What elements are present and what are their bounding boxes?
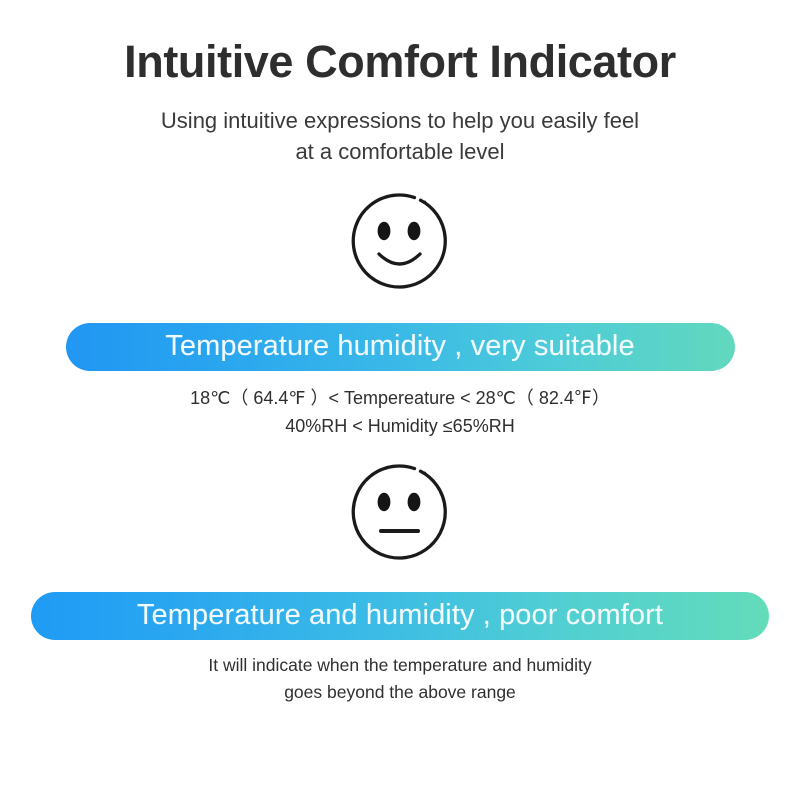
page-subtitle: Using intuitive expressions to help you … xyxy=(161,105,639,167)
page-subtitle-line-1: Using intuitive expressions to help you … xyxy=(161,105,639,136)
poor-comfort-description: It will indicate when the temperature an… xyxy=(208,652,591,706)
happy-face-illustration xyxy=(0,190,800,294)
comfort-indicator-page: Intuitive Comfort Indicator Using intuit… xyxy=(0,0,800,800)
smiley-neutral-face-icon xyxy=(348,461,452,565)
poor-comfort-description-line-2: goes beyond the above range xyxy=(208,679,591,706)
smiley-happy-face-icon xyxy=(348,190,452,294)
poor-comfort-description-line-1: It will indicate when the temperature an… xyxy=(208,652,591,679)
suitable-temperature-range: 18℃（ 64.4℉ ）< Tempereature < 28℃（ 82.4℉） xyxy=(190,385,610,413)
page-title: Intuitive Comfort Indicator xyxy=(124,38,676,85)
status-banner-suitable[interactable]: Temperature humidity , very suitable xyxy=(66,323,735,371)
suitable-range-text: 18℃（ 64.4℉ ）< Tempereature < 28℃（ 82.4℉）… xyxy=(190,385,610,441)
neutral-face-illustration xyxy=(0,461,800,565)
status-banner-poor-comfort[interactable]: Temperature and humidity , poor comfort xyxy=(31,592,769,640)
page-subtitle-line-2: at a comfortable level xyxy=(161,136,639,167)
suitable-humidity-range: 40%RH < Humidity ≤65%RH xyxy=(190,413,610,441)
